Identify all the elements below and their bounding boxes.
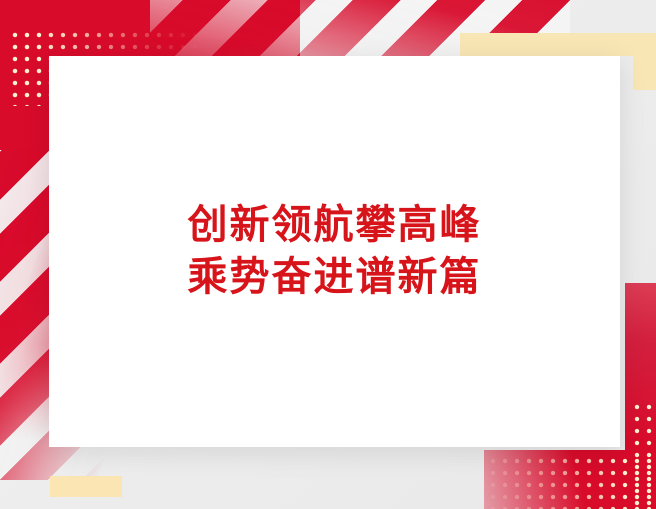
headline-line-2: 乘势奋进谱新篇 [188, 252, 482, 303]
gold-bar-bottom-left [50, 476, 122, 497]
gold-corner-vertical-bar [633, 33, 656, 90]
poster-canvas: 创新领航攀高峰 乘势奋进谱新篇 [0, 0, 656, 509]
dot-grid-right-column [628, 398, 656, 509]
white-content-card: 创新领航攀高峰 乘势奋进谱新篇 [49, 56, 620, 447]
headline-line-1: 创新领航攀高峰 [188, 200, 482, 251]
card-content-area: 创新领航攀高峰 乘势奋进谱新篇 [49, 56, 620, 447]
gold-corner-horizontal-bar [460, 33, 656, 56]
headline-block: 创新领航攀高峰 乘势奋进谱新篇 [188, 200, 482, 302]
dot-grid-left-column [6, 26, 50, 106]
